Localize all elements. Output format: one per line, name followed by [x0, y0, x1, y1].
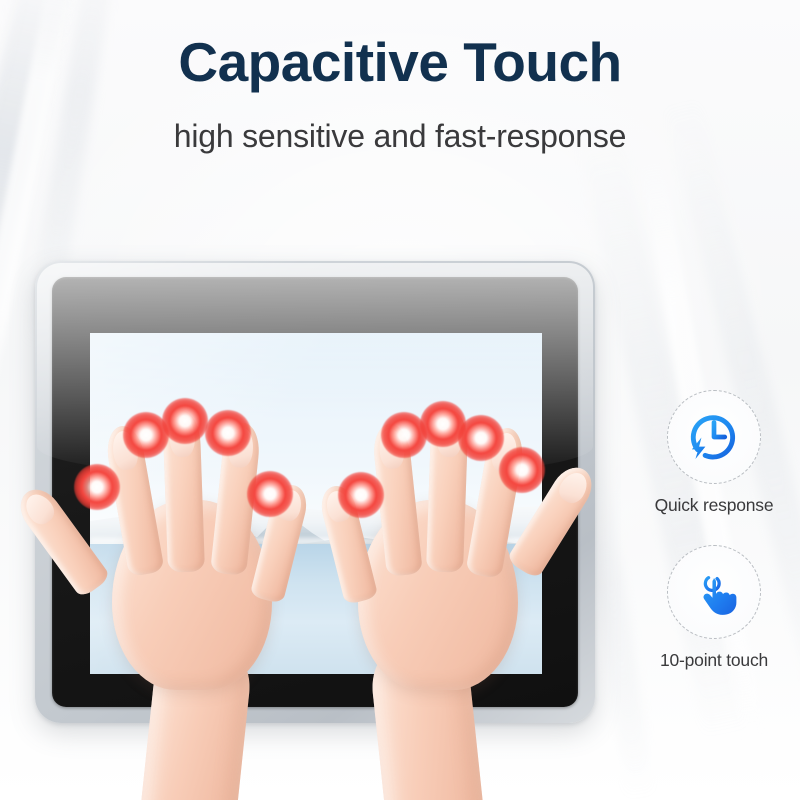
product-poster: Capacitive Touch high sensitive and fast… [0, 0, 800, 800]
screen-glare [90, 333, 542, 674]
touchscreen-monitor [35, 261, 595, 723]
feature-quick-response[interactable]: Quick response [634, 390, 794, 516]
clock-bolt-icon [684, 407, 744, 467]
page-subtitle: high sensitive and fast-response [0, 118, 800, 155]
feature-icon-circle [667, 545, 761, 639]
feature-label: 10-point touch [634, 650, 794, 671]
hand-tap-icon [685, 563, 743, 621]
monitor-screen[interactable] [90, 333, 542, 674]
feature-ten-point-touch[interactable]: 10-point touch [634, 545, 794, 671]
feature-icon-circle [667, 390, 761, 484]
page-title: Capacitive Touch [0, 34, 800, 91]
feature-label: Quick response [634, 495, 794, 516]
monitor-inner-bezel [52, 277, 578, 707]
